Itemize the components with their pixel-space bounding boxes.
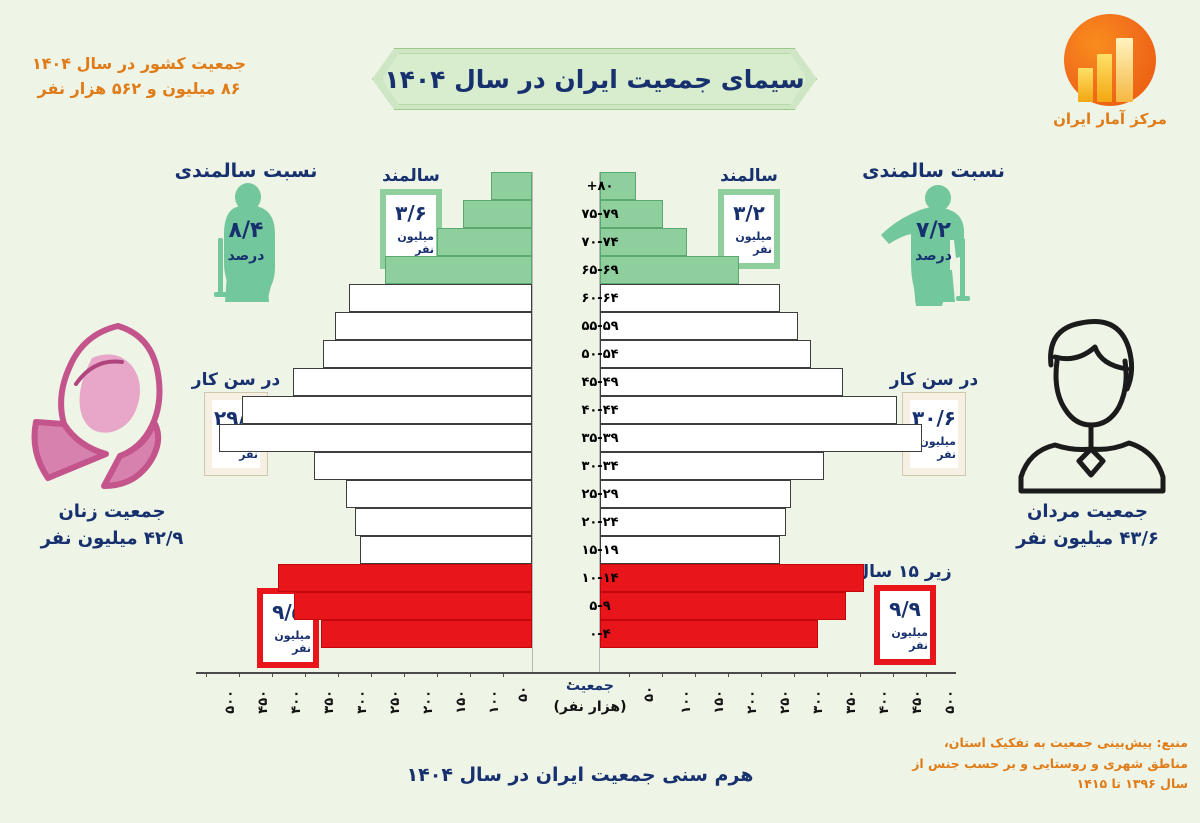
pyramid-row: ۱۰-۱۴ (0, 564, 1200, 592)
x-axis-tick (794, 672, 795, 677)
x-axis-tick-label: ۳۵۰ (322, 690, 337, 714)
x-axis-tick-label: ۲۰۰ (421, 690, 436, 714)
x-axis-tick (371, 672, 372, 677)
country-population-line2: ۸۶ میلیون و ۵۶۲ هزار نفر (24, 77, 254, 102)
x-axis-tick-zero: ۰ (566, 676, 574, 691)
x-axis-tick-label: ۳۰۰ (355, 690, 370, 714)
x-axis-tick-label: ۴۵۰ (910, 690, 925, 714)
age-group-label: ۵-۹ (0, 592, 1200, 620)
x-axis-tick (503, 672, 504, 677)
x-axis-tick-label: ۵۰ (642, 686, 657, 702)
age-group-label: ۳۵-۳۹ (0, 424, 1200, 452)
age-group-label: ۰-۴ (0, 620, 1200, 648)
pyramid-row: ۷۰-۷۴ (0, 228, 1200, 256)
x-axis-tick (629, 672, 630, 677)
source-line3: سال ۱۳۹۶ تا ۱۴۱۵ (900, 774, 1188, 795)
x-axis-tick (206, 672, 207, 677)
age-group-label: ۷۰-۷۴ (0, 228, 1200, 256)
x-axis-tick-label: ۴۰۰ (877, 690, 892, 714)
age-group-label: ۳۰-۳۴ (0, 452, 1200, 480)
logo-label: مرکز آمار ایران (1040, 110, 1180, 128)
age-group-label: ۲۵-۲۹ (0, 480, 1200, 508)
page-title: سیمای جمعیت ایران در سال ۱۴۰۴ (372, 48, 817, 110)
x-axis-tick (305, 672, 306, 677)
infographic-root: جمعیت کشور در سال ۱۴۰۴ ۸۶ میلیون و ۵۶۲ ه… (0, 0, 1200, 823)
x-axis-tick-label: ۱۵۰ (712, 690, 727, 714)
x-axis-tick (272, 672, 273, 677)
pyramid-row: ۰-۴ (0, 620, 1200, 648)
pyramid-row: ۲۰-۲۴ (0, 508, 1200, 536)
pyramid-row: ۳۰-۳۴ (0, 452, 1200, 480)
x-axis-tick-label: ۴۵۰ (256, 690, 271, 714)
x-axis-tick-label: ۳۵۰ (844, 690, 859, 714)
x-axis-tick-label: ۳۰۰ (811, 690, 826, 714)
x-axis-tick (860, 672, 861, 677)
x-axis-tick (662, 672, 663, 677)
pyramid-row: ۵۰-۵۴ (0, 340, 1200, 368)
pyramid-row: ۶۵-۶۹ (0, 256, 1200, 284)
x-axis-tick (437, 672, 438, 677)
x-axis-tick-label: ۵۰۰ (223, 690, 238, 714)
chart-caption: هرم سنی جمعیت ایران در سال ۱۴۰۴ (400, 764, 760, 786)
pyramid-row: ۱۵-۱۹ (0, 536, 1200, 564)
age-group-label: ۱۰-۱۴ (0, 564, 1200, 592)
x-axis-line (196, 672, 956, 674)
pyramid-row: ۶۰-۶۴ (0, 284, 1200, 312)
x-axis-title: جمعیت (هزار نفر) (520, 676, 660, 718)
age-group-label: ۴۰-۴۴ (0, 396, 1200, 424)
x-axis-title-line2: (هزار نفر) (520, 697, 660, 718)
statistical-center-logo: مرکز آمار ایران (1040, 14, 1180, 139)
x-axis-tick-label: ۱۵۰ (454, 690, 469, 714)
source-line2: مناطق شهری و روستایی و بر حسب جنس از (900, 754, 1188, 775)
pyramid-row: ۵۵-۵۹ (0, 312, 1200, 340)
pyramid-row: ۴۰-۴۴ (0, 396, 1200, 424)
pyramid-row: ۴۵-۴۹ (0, 368, 1200, 396)
x-axis-tick (827, 672, 828, 677)
x-axis-tick (695, 672, 696, 677)
pyramid-row: ۸۰+ (0, 172, 1200, 200)
x-axis-tick-label: ۱۰۰ (487, 690, 502, 714)
logo-bar-3 (1116, 38, 1133, 102)
x-axis-tick (893, 672, 894, 677)
x-axis-tick (926, 672, 927, 677)
logo-bar-1 (1078, 68, 1093, 102)
pyramid-row: ۳۵-۳۹ (0, 424, 1200, 452)
x-axis-tick-label: ۱۰۰ (679, 690, 694, 714)
pyramid-row: ۷۵-۷۹ (0, 200, 1200, 228)
population-pyramid-chart: ۸۰+۷۵-۷۹۷۰-۷۴۶۵-۶۹۶۰-۶۴۵۵-۵۹۵۰-۵۴۴۵-۴۹۴۰… (0, 172, 1200, 672)
x-axis-tick-label: ۲۰۰ (745, 690, 760, 714)
x-axis-tick-label: ۵۰ (516, 686, 531, 702)
x-axis-tick-label: ۲۵۰ (778, 690, 793, 714)
x-axis-title-line1: جمعیت (520, 676, 660, 697)
x-axis-tick-label: ۵۰۰ (943, 690, 958, 714)
main-title-banner: سیمای جمعیت ایران در سال ۱۴۰۴ (372, 48, 817, 110)
x-axis-tick-label: ۴۰۰ (289, 690, 304, 714)
x-axis-tick (470, 672, 471, 677)
source-note: منبع: پیش‌بینی جمعیت به تفکیک استان، منا… (900, 733, 1188, 795)
age-group-label: ۵۰-۵۴ (0, 340, 1200, 368)
age-group-label: ۴۵-۴۹ (0, 368, 1200, 396)
age-group-label: ۶۰-۶۴ (0, 284, 1200, 312)
age-group-label: ۲۰-۲۴ (0, 508, 1200, 536)
pyramid-row: ۲۵-۲۹ (0, 480, 1200, 508)
age-group-label: ۸۰+ (0, 172, 1200, 200)
x-axis-tick (761, 672, 762, 677)
x-axis-tick (338, 672, 339, 677)
x-axis-tick-label: ۲۵۰ (388, 690, 403, 714)
x-axis-tick (239, 672, 240, 677)
country-population-note: جمعیت کشور در سال ۱۴۰۴ ۸۶ میلیون و ۵۶۲ ه… (24, 52, 254, 102)
age-group-label: ۶۵-۶۹ (0, 256, 1200, 284)
logo-bar-2 (1097, 54, 1112, 102)
age-group-label: ۱۵-۱۹ (0, 536, 1200, 564)
country-population-line1: جمعیت کشور در سال ۱۴۰۴ (24, 52, 254, 77)
logo-bars-icon (1076, 38, 1142, 102)
age-group-label: ۵۵-۵۹ (0, 312, 1200, 340)
x-axis-tick (404, 672, 405, 677)
age-group-label: ۷۵-۷۹ (0, 200, 1200, 228)
pyramid-row: ۵-۹ (0, 592, 1200, 620)
x-axis-tick (728, 672, 729, 677)
source-line1: منبع: پیش‌بینی جمعیت به تفکیک استان، (900, 733, 1188, 754)
